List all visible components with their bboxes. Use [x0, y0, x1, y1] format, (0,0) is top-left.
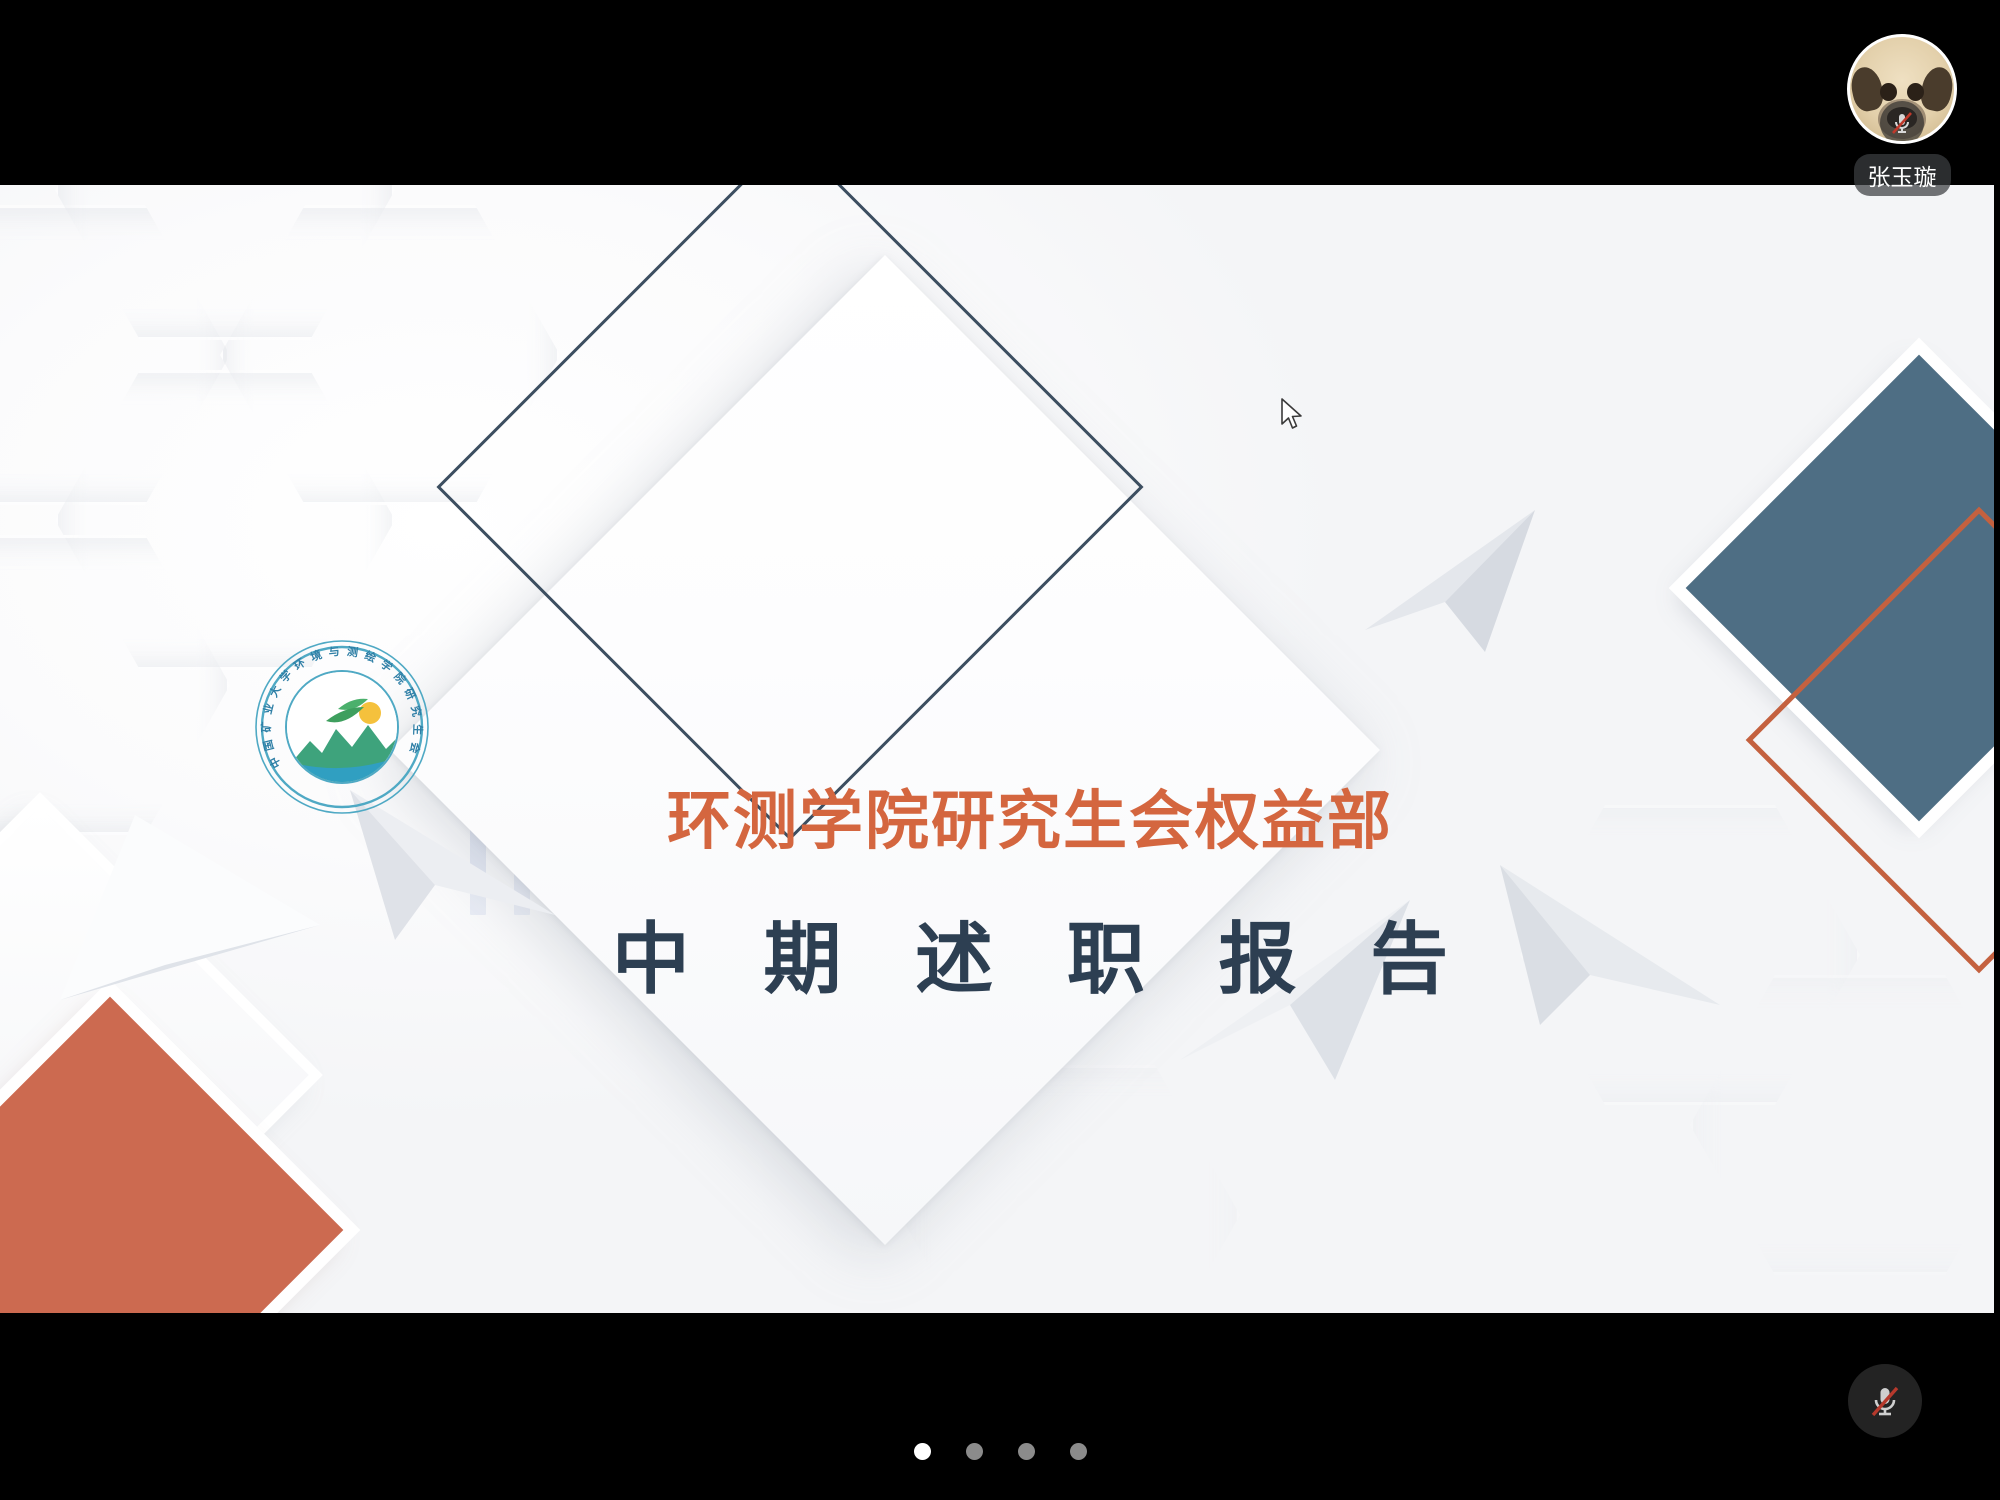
slide-title-main: 环测学院研究生会权益部 — [560, 785, 1500, 859]
svg-text:学: 学 — [378, 657, 395, 675]
participant-tile[interactable]: 张玉璇 — [1847, 34, 1957, 196]
svg-text:矿: 矿 — [259, 722, 273, 733]
paper-plane-decoration — [1335, 490, 1565, 690]
avatar-eye-left — [1880, 83, 1897, 101]
arrow-pointer-icon — [1280, 398, 1306, 432]
pagination-dot[interactable] — [914, 1443, 931, 1460]
dog-avatar[interactable] — [1847, 34, 1957, 144]
mic-off-icon — [1865, 1381, 1905, 1421]
svg-text:环: 环 — [292, 656, 308, 673]
slide-title-block: 环测学院研究生会权益部 中 期 述 职 报 告 — [560, 785, 1500, 1009]
pagination-dot[interactable] — [1070, 1443, 1087, 1460]
slide-title-sub: 中 期 述 职 报 告 — [560, 897, 1500, 1009]
mic-off-icon — [1880, 101, 1924, 144]
pagination-dot[interactable] — [1018, 1443, 1035, 1460]
slide-pagination[interactable] — [0, 1443, 2000, 1460]
svg-text:院: 院 — [391, 669, 409, 686]
svg-text:会: 会 — [407, 741, 424, 756]
svg-text:与: 与 — [328, 645, 340, 659]
participant-name-badge: 张玉璇 — [1854, 154, 1951, 196]
pagination-dot[interactable] — [966, 1443, 983, 1460]
mic-toggle-button[interactable] — [1848, 1364, 1922, 1438]
university-association-logo: 中国矿业大学环境与测绘学院研究生会 中 国 矿 业 大 学 环 境 与 测 绘 … — [252, 637, 432, 817]
svg-text:生: 生 — [411, 724, 425, 735]
presentation-slide[interactable]: 中国矿业大学环境与测绘学院研究生会 中 国 矿 业 大 学 环 境 与 测 绘 … — [0, 185, 1994, 1313]
svg-text:研: 研 — [402, 686, 419, 702]
avatar-eye-right — [1907, 83, 1924, 101]
screen: 中国矿业大学环境与测绘学院研究生会 中 国 矿 业 大 学 环 境 与 测 绘 … — [0, 0, 2000, 1500]
paper-plane-decoration — [30, 805, 330, 1035]
svg-text:学: 学 — [277, 667, 295, 685]
svg-text:业: 业 — [260, 702, 276, 716]
svg-text:测: 测 — [346, 644, 359, 659]
paper-plane-decoration — [1480, 845, 1740, 1045]
